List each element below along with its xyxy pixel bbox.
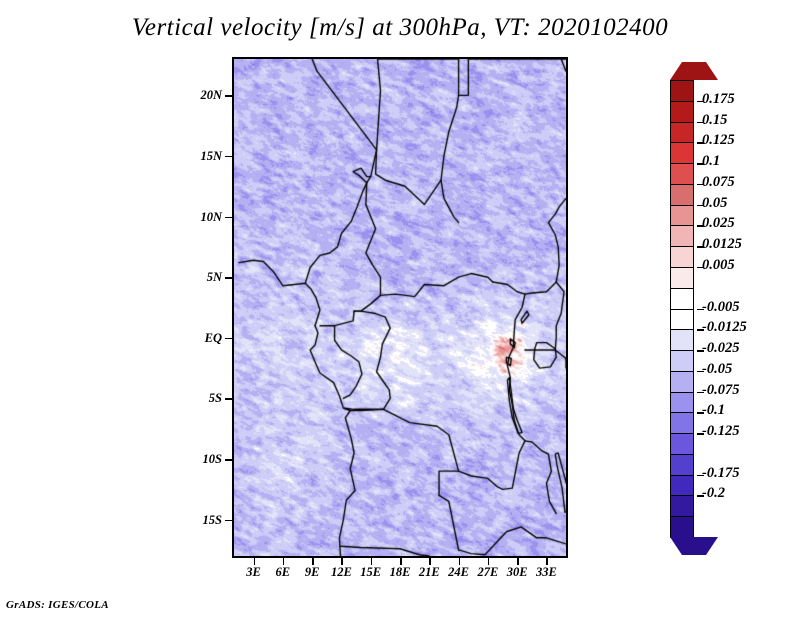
- colorbar-tick-mark: [697, 350, 704, 352]
- colorbar-segment: [670, 433, 694, 455]
- page-title: Vertical velocity [m/s] at 300hPa, VT: 2…: [0, 14, 800, 42]
- y-tick-label: 10N: [176, 210, 222, 225]
- colorbar-bottom-arrow-icon: [670, 537, 718, 555]
- colorbar-segment: [670, 288, 694, 310]
- colorbar-tick-label: 0.075: [702, 174, 735, 191]
- y-tick-mark: [225, 520, 232, 522]
- colorbar-segment: [670, 454, 694, 476]
- colorbar-segment: [670, 475, 694, 497]
- x-tick-label: 33E: [524, 565, 568, 580]
- y-tick-mark: [225, 338, 232, 340]
- x-tick-mark: [400, 558, 402, 565]
- y-tick-label: 10S: [176, 452, 222, 467]
- colorbar-segment: [670, 267, 694, 289]
- colorbar-tick-mark: [697, 412, 704, 414]
- colorbar-tick-label: -0.075: [702, 382, 739, 399]
- colorbar-top-arrow-icon: [670, 62, 718, 80]
- colorbar-tick-label: 0.1: [702, 153, 720, 170]
- x-tick-mark: [459, 558, 461, 565]
- colorbar-tick-mark: [697, 495, 704, 497]
- colorbar-tick-label: 0.175: [702, 91, 735, 108]
- colorbar-tick-label: -0.2: [702, 485, 725, 502]
- colorbar-segment: [670, 495, 694, 517]
- colorbar-segment: [670, 350, 694, 372]
- y-tick-label: 20N: [176, 88, 222, 103]
- colorbar-tick-label: -0.125: [702, 423, 739, 440]
- x-tick-mark: [371, 558, 373, 565]
- colorbar-tick-label: 0.05: [702, 195, 727, 212]
- colorbar-segment: [670, 205, 694, 227]
- x-tick-mark: [283, 558, 285, 565]
- colorbar-tick-mark: [697, 142, 704, 144]
- y-tick-label: 5S: [176, 391, 222, 406]
- colorbar-segment: [670, 246, 694, 268]
- grads-plot-page: Vertical velocity [m/s] at 300hPa, VT: 2…: [0, 0, 800, 618]
- colorbar-tick-label: -0.1: [702, 402, 725, 419]
- y-tick-mark: [225, 277, 232, 279]
- colorbar-tick-mark: [697, 371, 704, 373]
- colorbar-segment: [670, 412, 694, 434]
- y-tick-label: 15N: [176, 149, 222, 164]
- colorbar-tick-label: -0.0125: [702, 319, 747, 336]
- x-tick-mark: [312, 558, 314, 565]
- x-tick-mark: [546, 558, 548, 565]
- colorbar-segment: [670, 142, 694, 164]
- colorbar-segment: [670, 101, 694, 123]
- colorbar-tick-mark: [697, 122, 704, 124]
- colorbar-tick-mark: [697, 433, 704, 435]
- y-tick-label: EQ: [176, 331, 222, 346]
- y-tick-mark: [225, 398, 232, 400]
- colorbar-tick-mark: [697, 225, 704, 227]
- colorbar-segment: [670, 329, 694, 351]
- colorbar-segment: [670, 516, 694, 538]
- colorbar-tick-mark: [697, 184, 704, 186]
- x-tick-mark: [488, 558, 490, 565]
- x-tick-mark: [429, 558, 431, 565]
- colorbar-tick-mark: [697, 267, 704, 269]
- colorbar: [668, 62, 696, 555]
- country-borders-overlay: [234, 59, 566, 556]
- colorbar-tick-label: 0.025: [702, 215, 735, 232]
- colorbar-segment: [670, 163, 694, 185]
- colorbar-tick-mark: [697, 205, 704, 207]
- colorbar-segment: [670, 225, 694, 247]
- colorbar-tick-label: -0.005: [702, 299, 739, 316]
- y-tick-mark: [225, 156, 232, 158]
- colorbar-tick-label: 0.125: [702, 132, 735, 149]
- x-tick-mark: [254, 558, 256, 565]
- colorbar-tick-label: -0.05: [702, 361, 732, 378]
- y-tick-label: 15S: [176, 513, 222, 528]
- colorbar-segment: [670, 309, 694, 331]
- map-plot-area: [232, 57, 568, 558]
- colorbar-tick-label: 0.0125: [702, 236, 742, 253]
- colorbar-tick-mark: [697, 329, 704, 331]
- y-tick-mark: [225, 217, 232, 219]
- colorbar-tick-label: -0.025: [702, 340, 739, 357]
- colorbar-segment: [670, 371, 694, 393]
- x-tick-mark: [341, 558, 343, 565]
- colorbar-segment: [670, 122, 694, 144]
- footer-credit: GrADS: IGES/COLA: [6, 599, 109, 611]
- colorbar-tick-mark: [697, 163, 704, 165]
- colorbar-tick-label: 0.15: [702, 112, 727, 129]
- colorbar-tick-mark: [697, 246, 704, 248]
- y-tick-label: 5N: [176, 270, 222, 285]
- colorbar-tick-label: -0.175: [702, 465, 739, 482]
- colorbar-tick-mark: [697, 101, 704, 103]
- colorbar-segment: [670, 80, 694, 102]
- y-tick-mark: [225, 459, 232, 461]
- colorbar-segment: [670, 392, 694, 414]
- y-tick-mark: [225, 95, 232, 97]
- colorbar-tick-mark: [697, 392, 704, 394]
- colorbar-tick-mark: [697, 475, 704, 477]
- colorbar-tick-label: 0.005: [702, 257, 735, 274]
- colorbar-segment: [670, 184, 694, 206]
- x-tick-mark: [517, 558, 519, 565]
- colorbar-tick-mark: [697, 309, 704, 311]
